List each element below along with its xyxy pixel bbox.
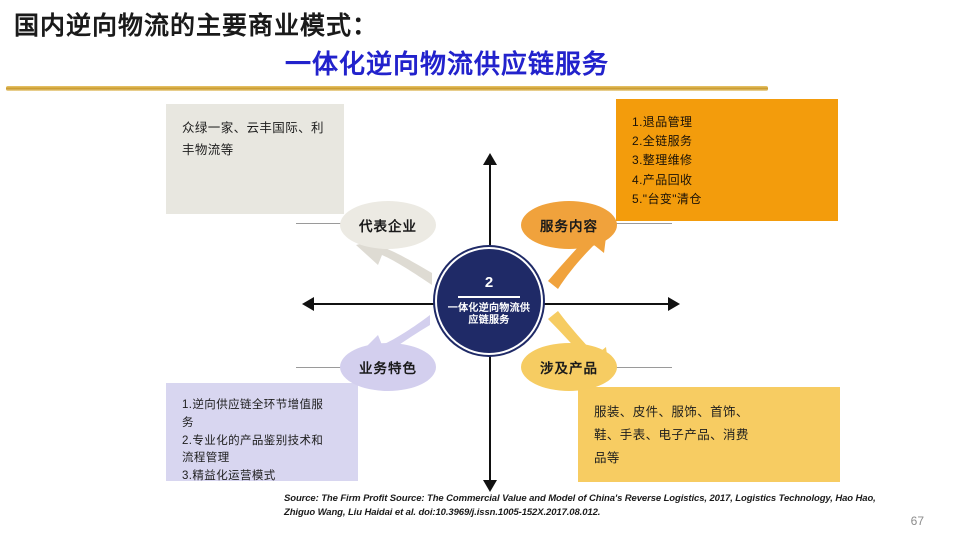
connector-top-right <box>612 223 672 224</box>
ellipse-label: 业务特色 <box>359 357 417 377</box>
box-line: 服装、皮件、服饰、首饰、 <box>594 401 824 424</box>
box-products-involved: 服装、皮件、服饰、首饰、 鞋、手表、电子产品、消费 品等 <box>578 387 840 482</box>
box-business-features: 1.逆向供应链全环节增值服 务 2.专业化的产品鉴别技术和 流程管理 3.精益化… <box>166 383 358 481</box>
center-divider <box>458 296 520 298</box>
box-line: 务 <box>182 415 342 433</box>
center-label: 一体化逆向物流供应链服务 <box>446 303 532 328</box>
slide-root: 国内逆向物流的主要商业模式： 一体化逆向物流供应链服务 众绿一家、云丰国际 <box>0 0 960 540</box>
box-service-content: 1.退品管理 2.全链服务 3.整理维修 4.产品回收 5."台变"清仓 <box>616 99 838 221</box>
box-line: 鞋、手表、电子产品、消费 <box>594 424 824 447</box>
box-line: 品等 <box>594 447 824 470</box>
page-subtitle: 一体化逆向物流供应链服务 <box>285 44 609 81</box>
box-line: 流程管理 <box>182 450 342 468</box>
box-line: 5."台变"清仓 <box>632 190 822 209</box>
box-line: 1.退品管理 <box>632 113 822 132</box>
box-line: 1.逆向供应链全环节增值服 <box>182 397 342 415</box>
label-ellipse-representative-enterprises: 代表企业 <box>340 201 436 249</box>
box-line: 丰物流等 <box>182 140 328 162</box>
ellipse-label: 代表企业 <box>359 215 417 235</box>
ellipse-label: 服务内容 <box>540 215 598 235</box>
box-line: 4.产品回收 <box>632 171 822 190</box>
center-hub-circle: 2 一体化逆向物流供应链服务 <box>435 247 543 355</box>
label-ellipse-products-involved: 涉及产品 <box>521 343 617 391</box>
box-line: 2.全链服务 <box>632 132 822 151</box>
ellipse-label: 涉及产品 <box>540 357 598 377</box>
box-line: 2.专业化的产品鉴别技术和 <box>182 433 342 451</box>
label-ellipse-service-content: 服务内容 <box>521 201 617 249</box>
arrow-up-icon <box>483 153 497 165</box>
title-divider-rule <box>6 86 768 91</box>
source-citation: Source: The Firm Profit Source: The Comm… <box>284 492 884 520</box>
page-number: 67 <box>911 514 924 528</box>
center-number: 2 <box>485 275 493 293</box>
box-line: 3.整理维修 <box>632 151 822 170</box>
connector-bottom-right <box>612 367 672 368</box>
label-ellipse-business-features: 业务特色 <box>340 343 436 391</box>
box-line: 众绿一家、云丰国际、利 <box>182 118 328 140</box>
page-title: 国内逆向物流的主要商业模式： <box>14 6 378 42</box>
box-line: 3.精益化运营模式 <box>182 468 342 486</box>
box-representative-enterprises: 众绿一家、云丰国际、利 丰物流等 <box>166 104 344 214</box>
arrow-down-icon <box>483 480 497 492</box>
quadrant-diagram: 众绿一家、云丰国际、利 丰物流等 1.退品管理 2.全链服务 3.整理维修 4.… <box>0 95 960 495</box>
arrow-right-icon <box>668 297 680 311</box>
arrow-left-icon <box>302 297 314 311</box>
